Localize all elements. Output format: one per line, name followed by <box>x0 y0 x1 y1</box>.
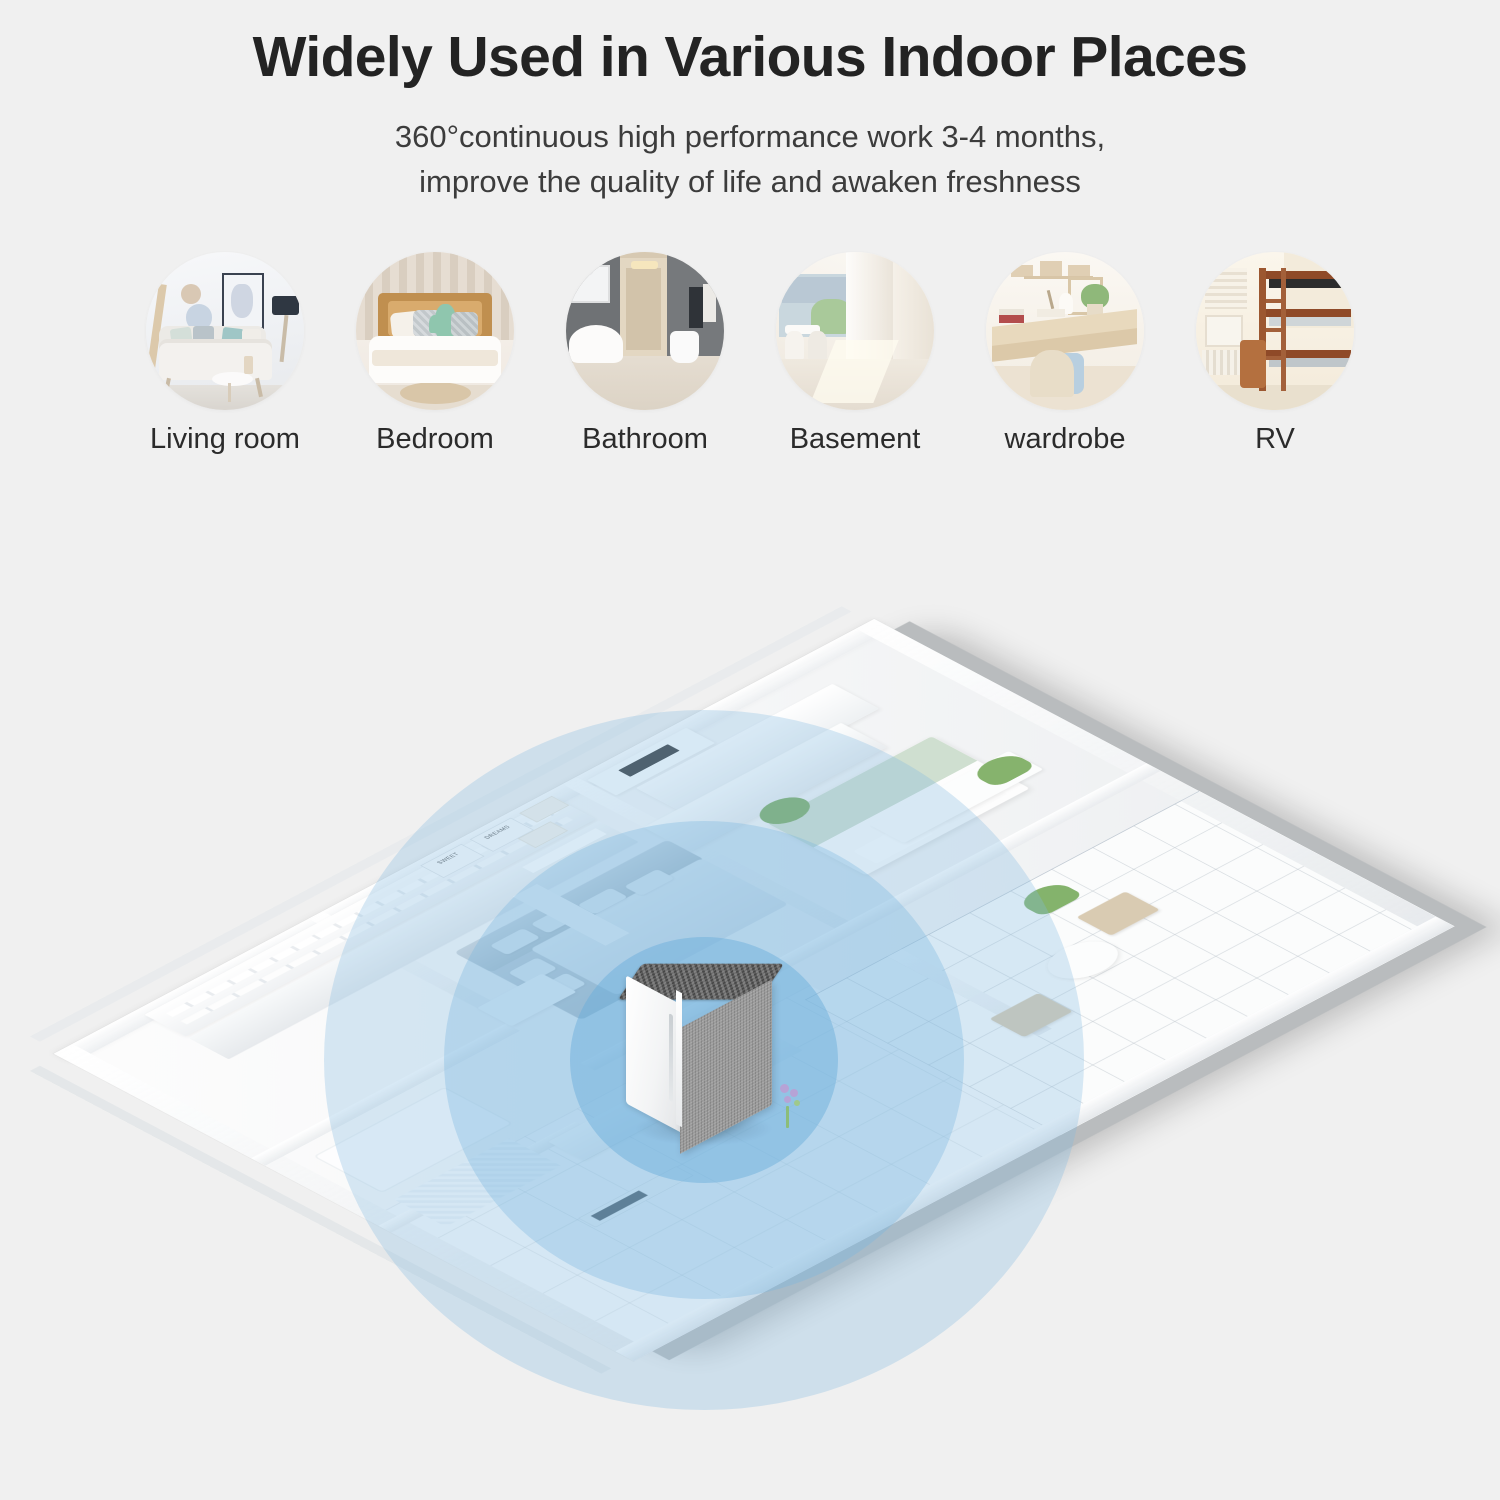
rv-thumbnail-icon <box>1196 252 1354 410</box>
category-rv[interactable]: RV <box>1186 252 1364 456</box>
floor-plan-model: SWEET DREAMS <box>54 619 1454 1361</box>
page-subtitle: 360°continuous high performance work 3-4… <box>0 115 1500 205</box>
product-feature-page: Widely Used in Various Indoor Places 360… <box>0 0 1500 1500</box>
category-wardrobe[interactable]: wardrobe <box>976 252 1154 456</box>
subtitle-line-2: improve the quality of life and awaken f… <box>0 160 1500 205</box>
isometric-apartment-scene: SWEET DREAMS <box>0 470 1500 1500</box>
page-title: Widely Used in Various Indoor Places <box>0 26 1500 89</box>
category-bathroom[interactable]: Bathroom <box>556 252 734 456</box>
category-living-room[interactable]: Living room <box>136 252 314 456</box>
category-label: wardrobe <box>1005 423 1126 456</box>
wardrobe-thumbnail-icon <box>986 252 1144 410</box>
subtitle-line-1: 360°continuous high performance work 3-4… <box>0 115 1500 160</box>
living-room-thumbnail-icon <box>146 252 304 410</box>
category-bedroom[interactable]: Bedroom <box>346 252 524 456</box>
category-label: Living room <box>150 423 300 456</box>
header-block: Widely Used in Various Indoor Places 360… <box>0 0 1500 240</box>
bathroom-thumbnail-icon <box>566 252 724 410</box>
bedroom-thumbnail-icon <box>356 252 514 410</box>
usage-scenario-list: Living room Bedroom <box>0 252 1500 472</box>
category-label: Basement <box>790 423 921 456</box>
category-basement[interactable]: Basement <box>766 252 944 456</box>
category-label: RV <box>1255 423 1295 456</box>
category-label: Bathroom <box>582 423 708 456</box>
basement-thumbnail-icon <box>776 252 934 410</box>
category-label: Bedroom <box>376 423 494 456</box>
